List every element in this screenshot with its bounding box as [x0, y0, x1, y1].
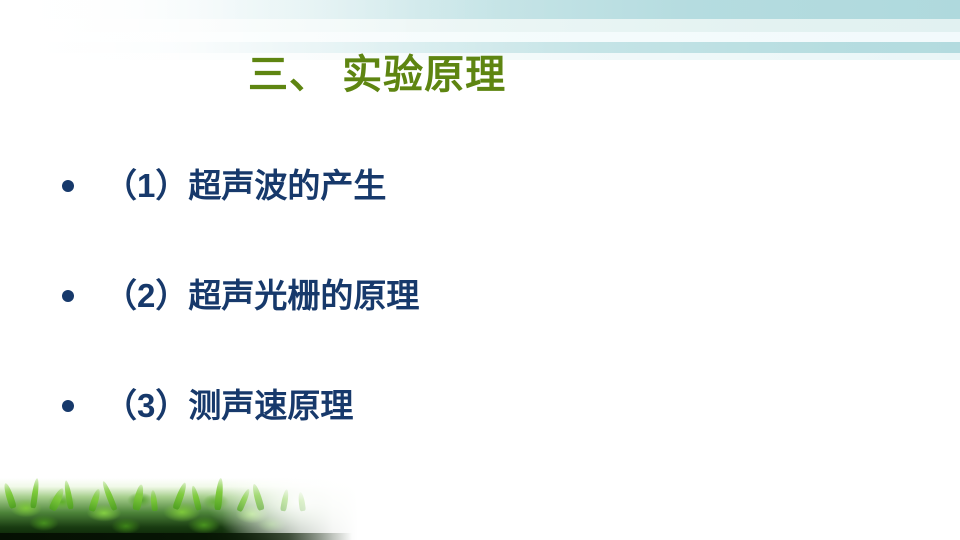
bullet-dot-icon	[62, 180, 74, 192]
teal-stripes-banner	[0, 0, 960, 60]
list-item[interactable]: （1）超声波的产生	[62, 158, 882, 214]
banner-left-fade	[0, 0, 960, 60]
bullet-item-label: （3）测声速原理	[104, 386, 353, 426]
list-item[interactable]: （2）超声光栅的原理	[62, 268, 882, 324]
stripe-band-2	[0, 19, 960, 32]
bullet-item-label: （1）超声波的产生	[104, 166, 386, 206]
bullet-list: （1）超声波的产生 （2）超声光栅的原理 （3）测声速原理	[62, 158, 882, 488]
bullet-dot-icon	[62, 290, 74, 302]
stripe-band-3	[0, 32, 960, 42]
presentation-slide: 三、 实验原理 （1）超声波的产生 （2）超声光栅的原理 （3）测声速原理	[0, 0, 960, 540]
slide-title: 三、 实验原理	[248, 52, 506, 99]
bullet-item-label: （2）超声光栅的原理	[104, 276, 419, 316]
list-item[interactable]: （3）测声速原理	[62, 378, 882, 434]
foliage-right-fade	[0, 468, 358, 540]
stripe-band-1	[0, 0, 960, 19]
foliage-dark-floor	[0, 533, 352, 540]
green-foliage-photo	[0, 468, 358, 540]
bullet-dot-icon	[62, 400, 74, 412]
